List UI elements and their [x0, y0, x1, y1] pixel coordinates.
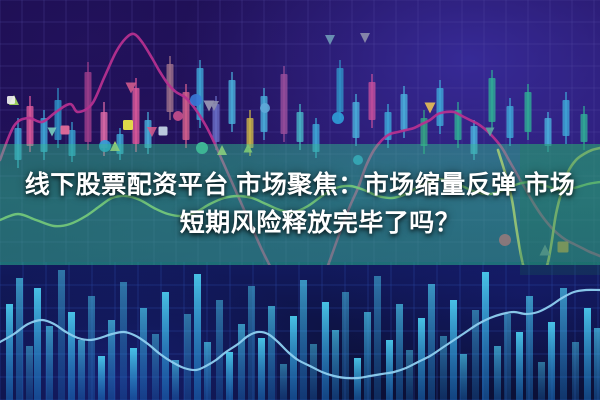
headline-overlay: 线下股票配资平台 市场聚焦：市场缩量反弹 市场 短期风险释放完毕了吗？	[0, 152, 600, 256]
headline-line-1: 线下股票配资平台 市场聚焦：市场缩量反弹 市场	[25, 167, 575, 203]
headline-line-2: 短期风险释放完毕了吗？	[140, 205, 461, 241]
banner-image: 线下股票配资平台 市场聚焦：市场缩量反弹 市场 短期风险释放完毕了吗？	[0, 0, 600, 400]
volume-bar-group	[6, 270, 600, 400]
